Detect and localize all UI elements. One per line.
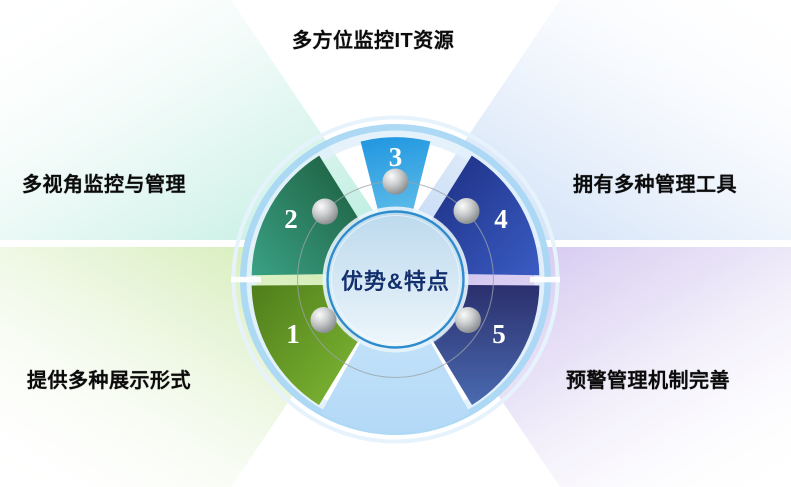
- sphere-marker-1[interactable]: [311, 307, 337, 333]
- segment-1-number: 1: [286, 319, 300, 349]
- label-top-monitor-it-resources: 多方位监控IT资源: [292, 24, 454, 53]
- label-right-top-management-tools: 拥有多种管理工具: [573, 168, 737, 197]
- segment-3-number: 3: [389, 142, 403, 172]
- sphere-marker-2[interactable]: [312, 199, 338, 225]
- label-left-bottom-display-formats: 提供多种展示形式: [27, 364, 191, 393]
- diagram-canvas: 3 2 1 4 5: [0, 0, 791, 487]
- segment-5-number: 5: [492, 319, 506, 349]
- sphere-marker-4[interactable]: [454, 198, 480, 224]
- donut-wheel: 3 2 1 4 5: [231, 115, 560, 444]
- segment-4-number: 4: [494, 204, 508, 234]
- sphere-marker-3[interactable]: [383, 169, 409, 195]
- segment-2-number: 2: [284, 204, 298, 234]
- label-right-bottom-alert-mechanism: 预警管理机制完善: [566, 364, 730, 393]
- label-left-top-multiview-monitoring: 多视角监控与管理: [22, 168, 186, 197]
- sphere-marker-5[interactable]: [455, 307, 481, 333]
